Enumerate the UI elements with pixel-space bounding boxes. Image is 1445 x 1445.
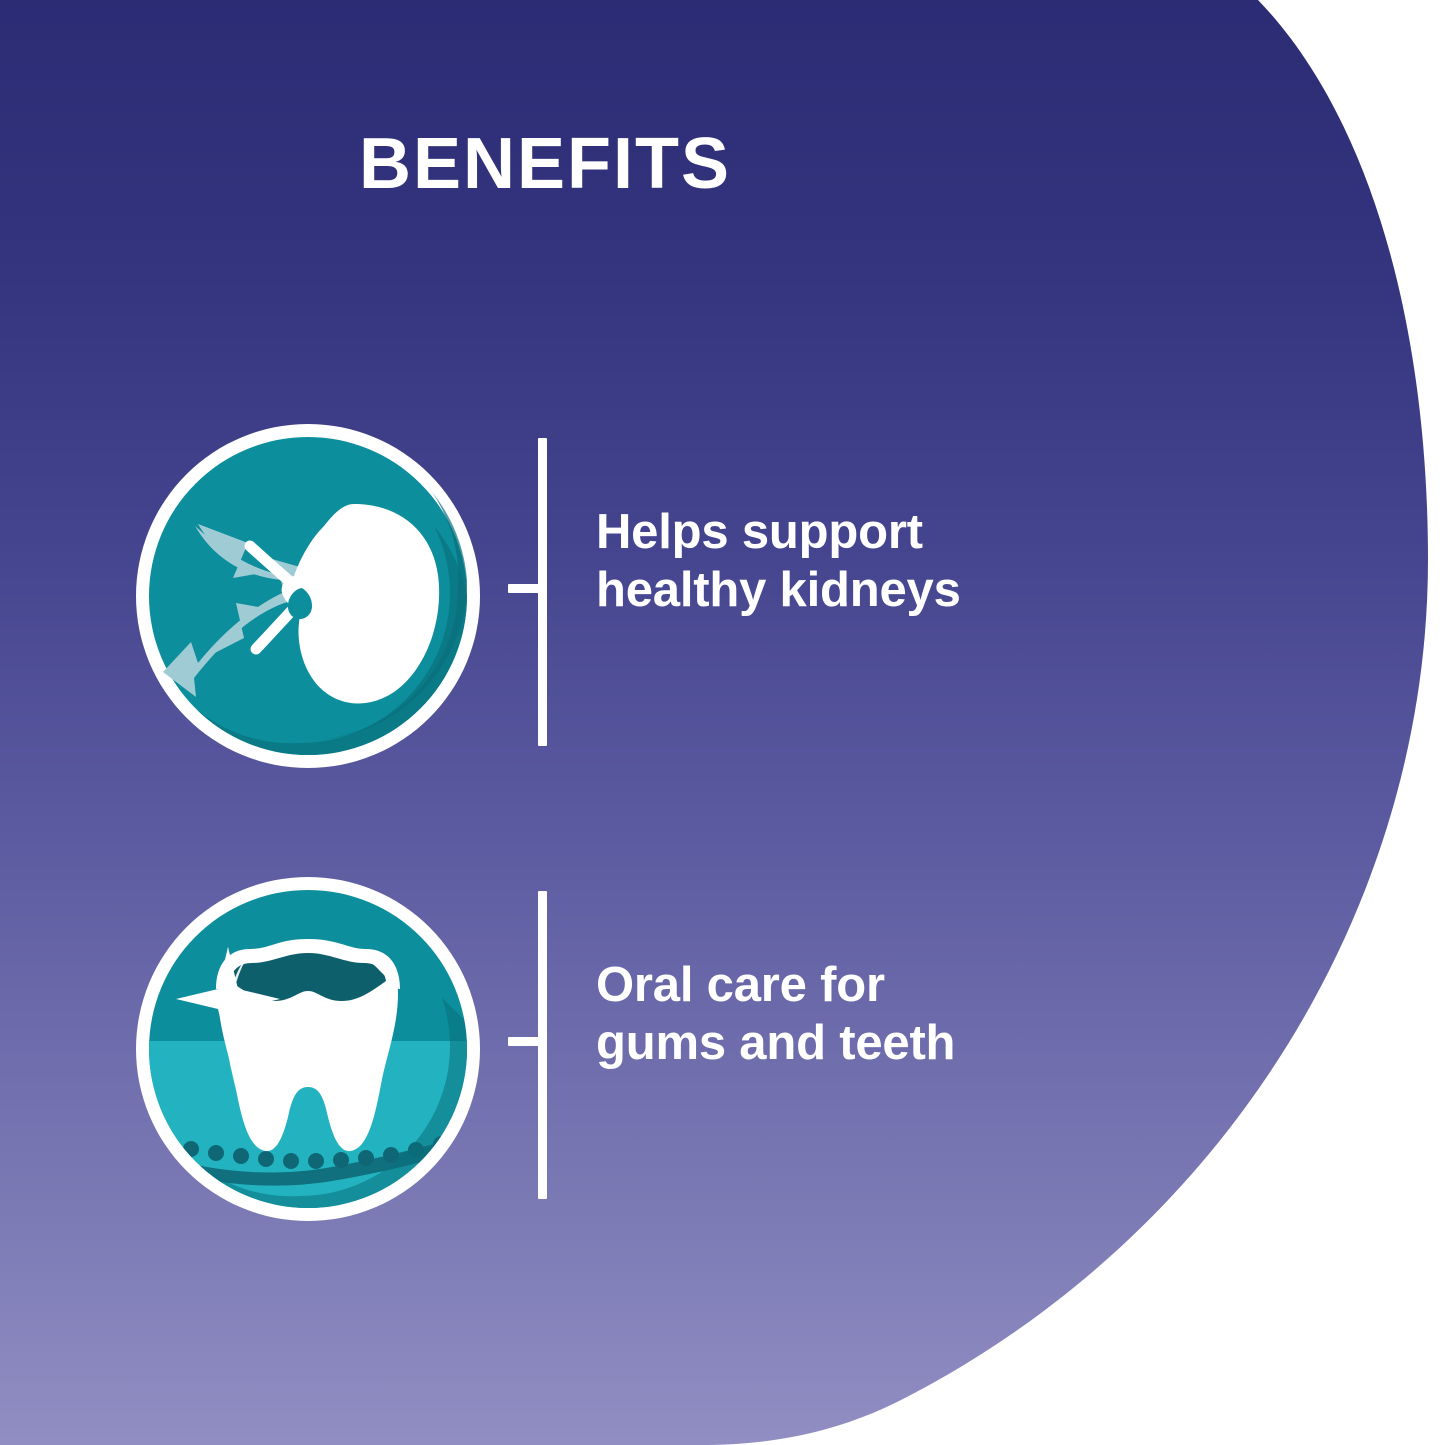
- tooth-icon: [132, 873, 484, 1225]
- kidney-icon: [132, 420, 484, 772]
- page-title: BENEFITS: [0, 128, 1090, 200]
- benefit-label-kidney: Helps support healthy kidneys: [596, 504, 1076, 620]
- row-divider-tick: [508, 1037, 546, 1046]
- benefit-row-kidney: Helps support healthy kidneys: [0, 412, 1100, 772]
- benefit-row-tooth: Oral care for gums and teeth: [0, 865, 1100, 1225]
- benefits-panel: BENEFITS: [0, 0, 1445, 1445]
- benefit-label-tooth: Oral care for gums and teeth: [596, 957, 1076, 1073]
- row-divider-tick: [508, 584, 546, 593]
